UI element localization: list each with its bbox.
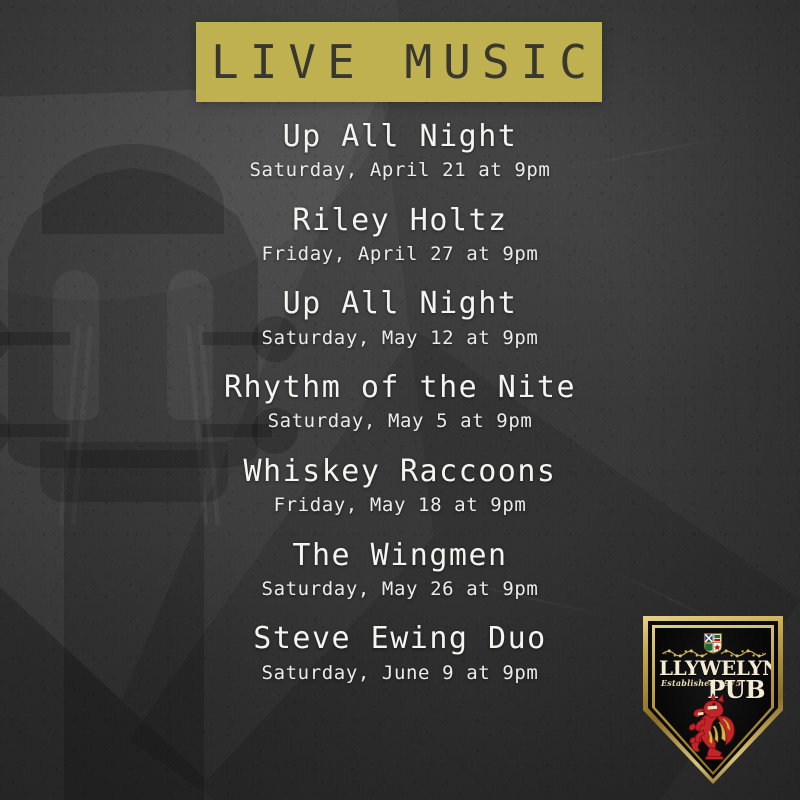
event-date: Friday, April 27 at 9pm [0,241,800,269]
event-date: Saturday, April 21 at 9pm [0,157,800,185]
event-band-name: Up All Night [0,285,800,322]
live-music-banner: LIVE MUSIC [196,22,602,102]
event-band-name: Riley Holtz [0,202,800,239]
list-item: Whiskey Raccoons Friday, May 18 at 9pm [0,453,800,520]
event-date: Friday, May 18 at 9pm [0,492,800,520]
list-item: Up All Night Saturday, May 12 at 9pm [0,285,800,352]
shield-face: LLYWELYN'S Established 1975 PUB [655,628,771,772]
page-title: LIVE MUSIC [200,39,598,85]
event-date: Saturday, May 26 at 9pm [0,576,800,604]
event-band-name: Whiskey Raccoons [0,453,800,490]
event-band-name: Up All Night [0,118,800,155]
event-date: Saturday, May 12 at 9pm [0,325,800,353]
event-date: Saturday, May 5 at 9pm [0,408,800,436]
llywelyns-pub-logo: LLYWELYN'S Established 1975 PUB [643,616,783,784]
list-item: Riley Holtz Friday, April 27 at 9pm [0,202,800,269]
event-band-name: Rhythm of the Nite [0,369,800,406]
event-band-name: The Wingmen [0,537,800,574]
list-item: Rhythm of the Nite Saturday, May 5 at 9p… [0,369,800,436]
live-music-poster: LIVE MUSIC Up All Night Saturday, April … [0,0,800,800]
list-item: The Wingmen Saturday, May 26 at 9pm [0,537,800,604]
list-item: Up All Night Saturday, April 21 at 9pm [0,118,800,185]
